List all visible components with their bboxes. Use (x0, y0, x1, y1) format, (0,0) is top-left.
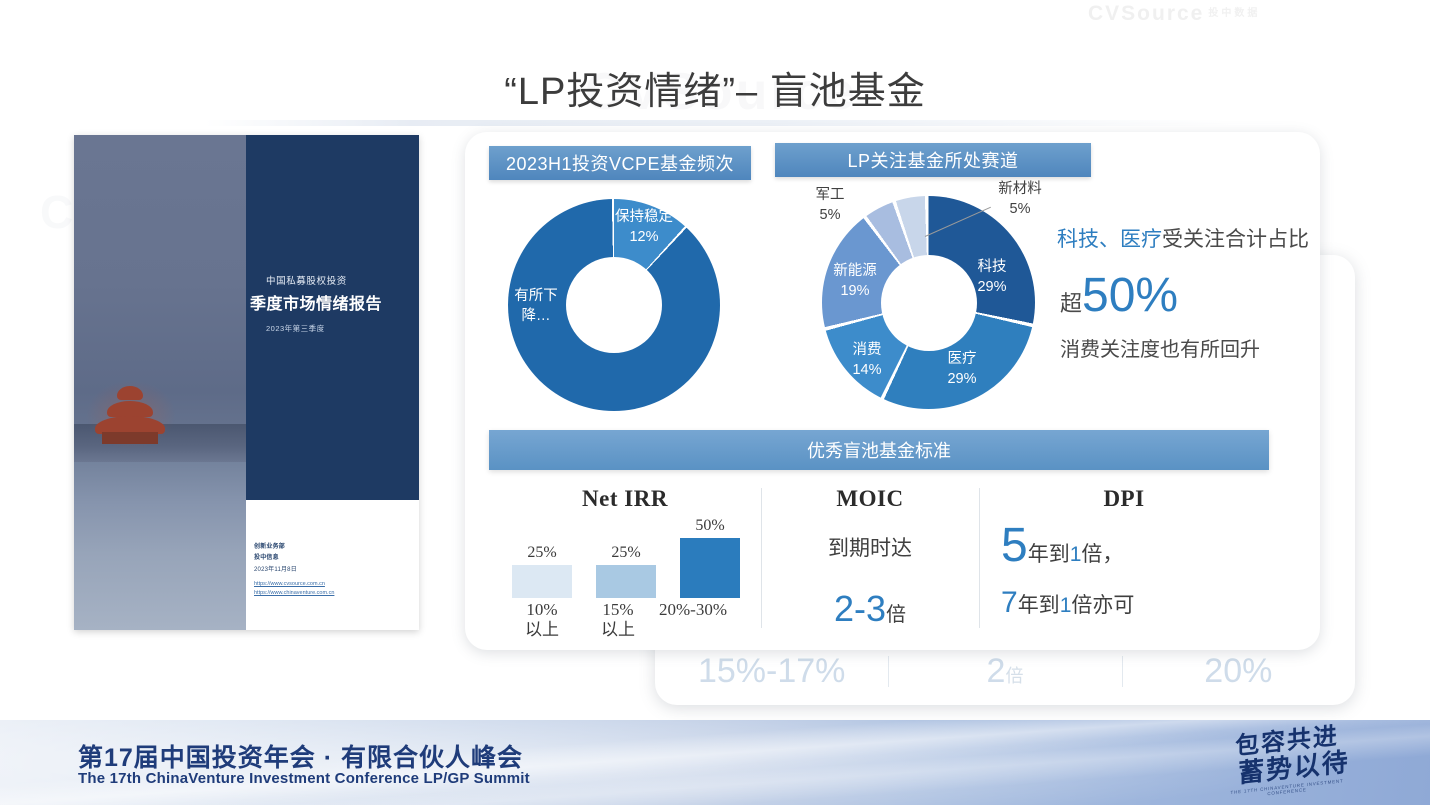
highlight-line-3: 消费关注度也有所回升 (1060, 333, 1260, 362)
ghost-dpi: 20% (1122, 652, 1355, 691)
ghost-moic-unit: 倍 (1005, 666, 1023, 686)
irr-cat-3: 20%-30% (645, 600, 741, 641)
cover-date: 2023年11月8日 (254, 564, 297, 573)
moic-value-row: 2-3倍 (761, 562, 979, 630)
irr-bar-categories: 10% 以上 15% 以上 20%-30% (511, 600, 741, 641)
irr-bar-col-1: 25% (511, 544, 573, 598)
moic-number: 2-3 (834, 588, 886, 629)
irr-bar-value-2: 25% (611, 544, 640, 562)
metric-moic: MOIC 到期时达 2-3倍 (761, 482, 979, 642)
dpi-line-1: 5年到1倍， (979, 512, 1269, 570)
chart2-banner: LP关注基金所处赛道 (775, 143, 1091, 177)
irr-cat-2: 15% 以上 (587, 600, 649, 641)
cover-department: 创新业务部 (254, 541, 285, 550)
cover-navy-panel (246, 135, 419, 500)
forbidden-city-photo (74, 135, 246, 630)
metric-net-irr: Net IRR 25% 25% 50% 10% 以上 (489, 482, 761, 642)
dpi-multiple-1: 1 (1070, 543, 1082, 566)
cover-quarter: 2023年第三季度 (266, 323, 325, 334)
highlight-rest-text: 受关注合计占比 (1162, 228, 1309, 251)
ghost-irr: 15%-17% (655, 652, 888, 691)
dpi-line-2: 7年到1倍亦可 (979, 570, 1269, 620)
highlight-line-1: 科技、医疗受关注合计占比 (1057, 223, 1309, 253)
conference-name-en: The 17th ChinaVenture Investment Confere… (78, 770, 530, 787)
corner-tower-icon (94, 384, 166, 444)
highlight-big-number: 50% (1082, 272, 1178, 320)
ghost-moic: 2倍 (888, 652, 1121, 691)
highlight-prefix: 超 (1060, 286, 1082, 318)
metric-title-dpi: DPI (979, 482, 1269, 512)
irr-bar-3 (680, 538, 740, 598)
dpi-years-1: 5 (1001, 519, 1028, 572)
highlight-blue-text: 科技、医疗 (1057, 228, 1162, 251)
standards-banner: 优秀盲池基金标准 (489, 430, 1269, 470)
dpi-text-1a: 年到 (1028, 543, 1070, 566)
metric-dpi: DPI 5年到1倍， 7年到1倍亦可 (979, 482, 1269, 642)
cover-link-cvsource[interactable]: https://www.cvsource.com.cn (254, 581, 325, 587)
moic-description: 到期时达 (761, 512, 979, 562)
slide-root: CVSource投中数据 CVSource CVSource “LP投资情绪”–… (0, 0, 1430, 805)
donut-chart-investment-frequency (508, 199, 720, 411)
irr-bar-2 (596, 565, 656, 598)
title-divider (205, 120, 1230, 126)
dpi-text-2a: 年到 (1018, 594, 1060, 617)
donut-chart-lp-sectors (822, 196, 1035, 409)
irr-cat-1: 10% 以上 (511, 600, 573, 641)
dpi-text-1b: 倍， (1081, 543, 1123, 566)
conference-calligraphy-logo: 包容共进 蓄势以待 THE 17TH CHINAVENTURE INVESTME… (1212, 722, 1361, 804)
irr-bar-col-3: 50% (679, 517, 741, 598)
page-title: “LP投资情绪”– 盲池基金 (0, 60, 1430, 115)
cover-organization: 投中信息 (254, 552, 279, 561)
cover-title: 季度市场情绪报告 (250, 290, 410, 314)
standards-metrics-row: Net IRR 25% 25% 50% 10% 以上 (489, 482, 1269, 642)
conference-name-cn: 第17届中国投资年会 · 有限合伙人峰会 (78, 738, 523, 774)
ghost-moic-num: 2 (987, 652, 1006, 690)
moic-unit: 倍 (886, 604, 906, 626)
cvsource-watermark: CVSource投中数据 (1088, 2, 1260, 26)
dpi-text-2b: 倍亦可 (1071, 594, 1134, 617)
report-cover-image: 中国私募股权投资 季度市场情绪报告 2023年第三季度 创新业务部 投中信息 2… (74, 135, 419, 630)
irr-bar-1 (512, 565, 572, 598)
frozen-moat (74, 460, 246, 630)
highlight-line-2: 超50% (1060, 272, 1178, 320)
irr-bar-value-3: 50% (695, 517, 724, 535)
dpi-multiple-2: 1 (1060, 594, 1072, 617)
chart1-banner: 2023H1投资VCPE基金频次 (489, 146, 751, 180)
conference-footer-banner: 第17届中国投资年会 · 有限合伙人峰会 The 17th ChinaVentu… (0, 720, 1430, 805)
dpi-years-2: 7 (1001, 586, 1018, 619)
metric-title-moic: MOIC (761, 482, 979, 512)
irr-bar-col-2: 25% (595, 544, 657, 598)
cover-link-chinaventure[interactable]: https://www.chinaventure.com.cn (254, 590, 334, 596)
metric-title-net-irr: Net IRR (489, 482, 761, 512)
irr-bar-value-1: 25% (527, 544, 556, 562)
irr-bar-chart: 25% 25% 50% (511, 526, 741, 598)
cover-subtitle: 中国私募股权投资 (266, 273, 406, 287)
